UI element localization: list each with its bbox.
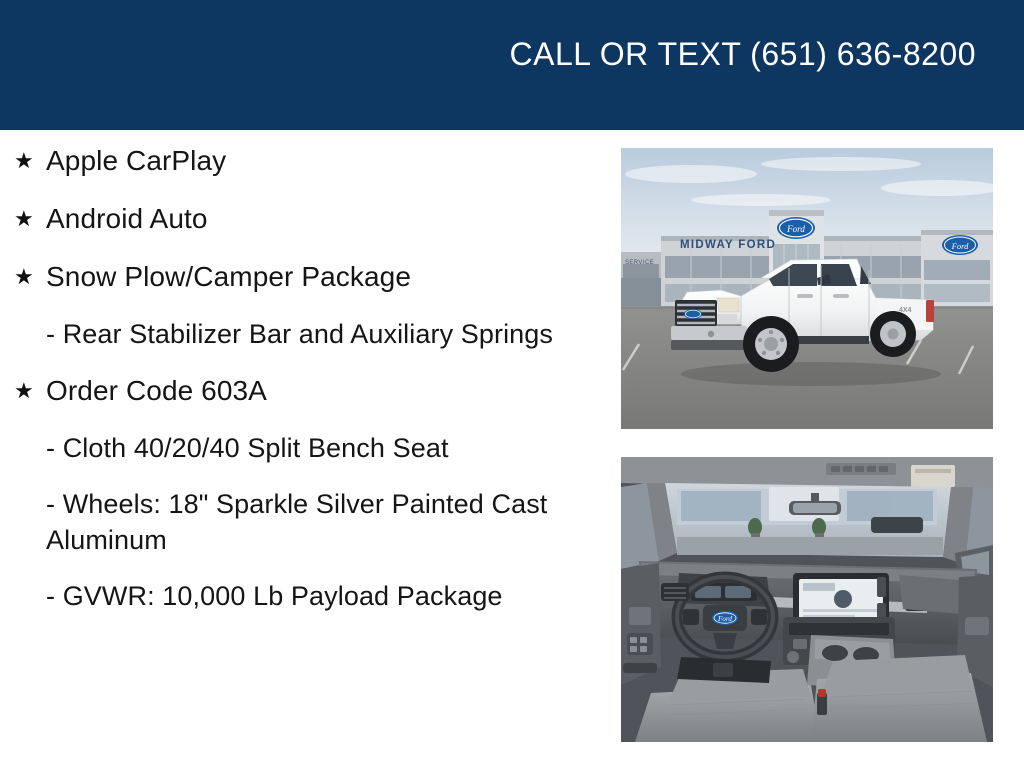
star-bullet-icon: ★: [12, 142, 46, 180]
call-or-text-phone-label[interactable]: CALL OR TEXT (651) 636-8200: [510, 38, 1024, 92]
vehicle-interior-photo[interactable]: Ford: [621, 457, 993, 742]
star-bullet-icon: ★: [12, 372, 46, 410]
feature-list: ★ Apple CarPlay ★ Android Auto ★ Snow Pl…: [0, 142, 600, 634]
svg-text:Ford: Ford: [786, 224, 805, 234]
feature-item: ★ Snow Plow/Camper Package: [12, 258, 600, 296]
feature-label: Snow Plow/Camper Package: [46, 258, 411, 296]
star-bullet-icon: ★: [12, 258, 46, 296]
svg-text:MIDWAY FORD: MIDWAY FORD: [680, 239, 776, 251]
interior-photo-graphic: Ford: [621, 457, 993, 742]
feature-subitem: - Rear Stabilizer Bar and Auxiliary Spri…: [12, 316, 600, 352]
svg-text:Ford: Ford: [717, 615, 732, 623]
star-bullet-icon: ★: [12, 200, 46, 238]
feature-subitem-label: - GVWR: 10,000 Lb Payload Package: [46, 578, 503, 614]
feature-label: Apple CarPlay: [46, 142, 226, 180]
feature-subitem: - GVWR: 10,000 Lb Payload Package: [12, 578, 600, 614]
feature-subitem-label: - Wheels: 18" Sparkle Silver Painted Cas…: [46, 486, 566, 558]
feature-subitem-label: - Rear Stabilizer Bar and Auxiliary Spri…: [46, 316, 553, 352]
exterior-photo-graphic: SERVICE: [621, 148, 993, 429]
feature-label: Order Code 603A: [46, 372, 267, 410]
vehicle-features-slide: CALL OR TEXT (651) 636-8200 ★ Apple CarP…: [0, 0, 1024, 768]
feature-item: ★ Android Auto: [12, 200, 600, 238]
feature-item: ★ Apple CarPlay: [12, 142, 600, 180]
header-bar: CALL OR TEXT (651) 636-8200: [0, 0, 1024, 130]
feature-subitem-label: - Cloth 40/20/40 Split Bench Seat: [46, 430, 449, 466]
vehicle-exterior-photo[interactable]: SERVICE: [621, 148, 993, 429]
feature-subitem: - Wheels: 18" Sparkle Silver Painted Cas…: [12, 486, 600, 558]
feature-subitem: - Cloth 40/20/40 Split Bench Seat: [12, 430, 600, 466]
svg-text:Ford: Ford: [951, 241, 969, 251]
svg-text:SERVICE: SERVICE: [625, 260, 654, 266]
feature-item: ★ Order Code 603A: [12, 372, 600, 410]
feature-label: Android Auto: [46, 200, 208, 238]
